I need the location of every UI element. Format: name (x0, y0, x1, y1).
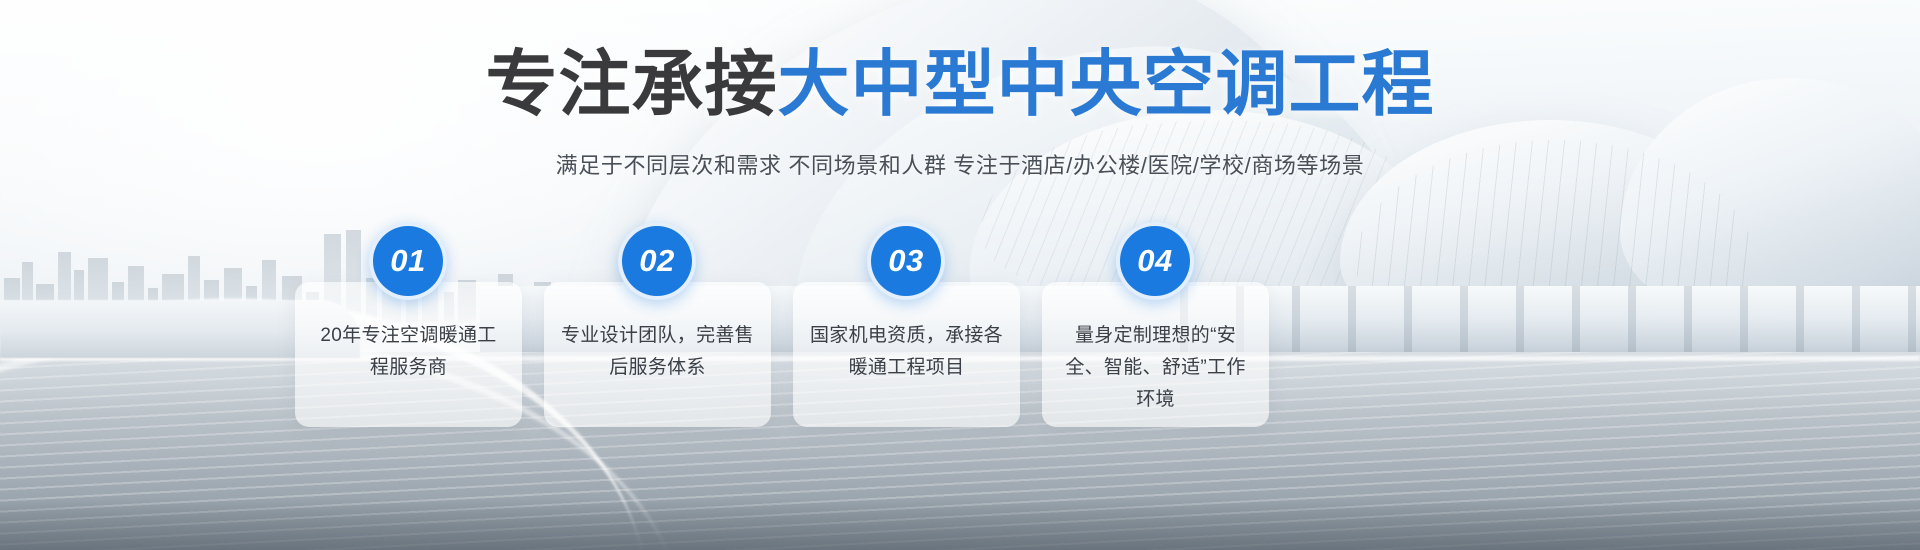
feature-card[interactable]: 量身定制理想的“安全、智能、舒适”工作环境 (1042, 282, 1269, 427)
feature-card[interactable]: 专业设计团队，完善售后服务体系 (544, 282, 771, 427)
headline-dark-text: 专注承接 (485, 45, 777, 125)
feature-number-badge: 04 (1116, 222, 1194, 300)
feature-card[interactable]: 20年专注空调暖通工程服务商 (295, 282, 522, 427)
banner-subheadline: 满足于不同层次和需求 不同场景和人群 专注于酒店/办公楼/医院/学校/商场等场景 (0, 148, 1920, 180)
feature-number-badge: 02 (618, 222, 696, 300)
banner-headline: 专注承接大中型中央空调工程 (0, 42, 1920, 128)
banner-content: 专注承接大中型中央空调工程 满足于不同层次和需求 不同场景和人群 专注于酒店/办… (0, 0, 1920, 550)
feature-card-text: 国家机电资质，承接各暖通工程项目 (809, 320, 1004, 384)
feature-number-label: 03 (871, 226, 941, 296)
feature-card-text: 量身定制理想的“安全、智能、舒适”工作环境 (1058, 320, 1253, 416)
feature-card-list: 20年专注空调暖通工程服务商 专业设计团队，完善售后服务体系 国家机电资质，承接… (295, 222, 1575, 432)
feature-card[interactable]: 国家机电资质，承接各暖通工程项目 (793, 282, 1020, 427)
feature-card-text: 专业设计团队，完善售后服务体系 (560, 320, 755, 384)
feature-number-label: 02 (622, 226, 692, 296)
feature-number-label: 01 (373, 226, 443, 296)
feature-number-badge: 01 (369, 222, 447, 300)
feature-number-badge: 03 (867, 222, 945, 300)
headline-blue-text: 大中型中央空调工程 (778, 45, 1435, 125)
feature-card-text: 20年专注空调暖通工程服务商 (311, 320, 506, 384)
feature-number-label: 04 (1120, 226, 1190, 296)
hero-banner: 专注承接大中型中央空调工程 满足于不同层次和需求 不同场景和人群 专注于酒店/办… (0, 0, 1920, 550)
